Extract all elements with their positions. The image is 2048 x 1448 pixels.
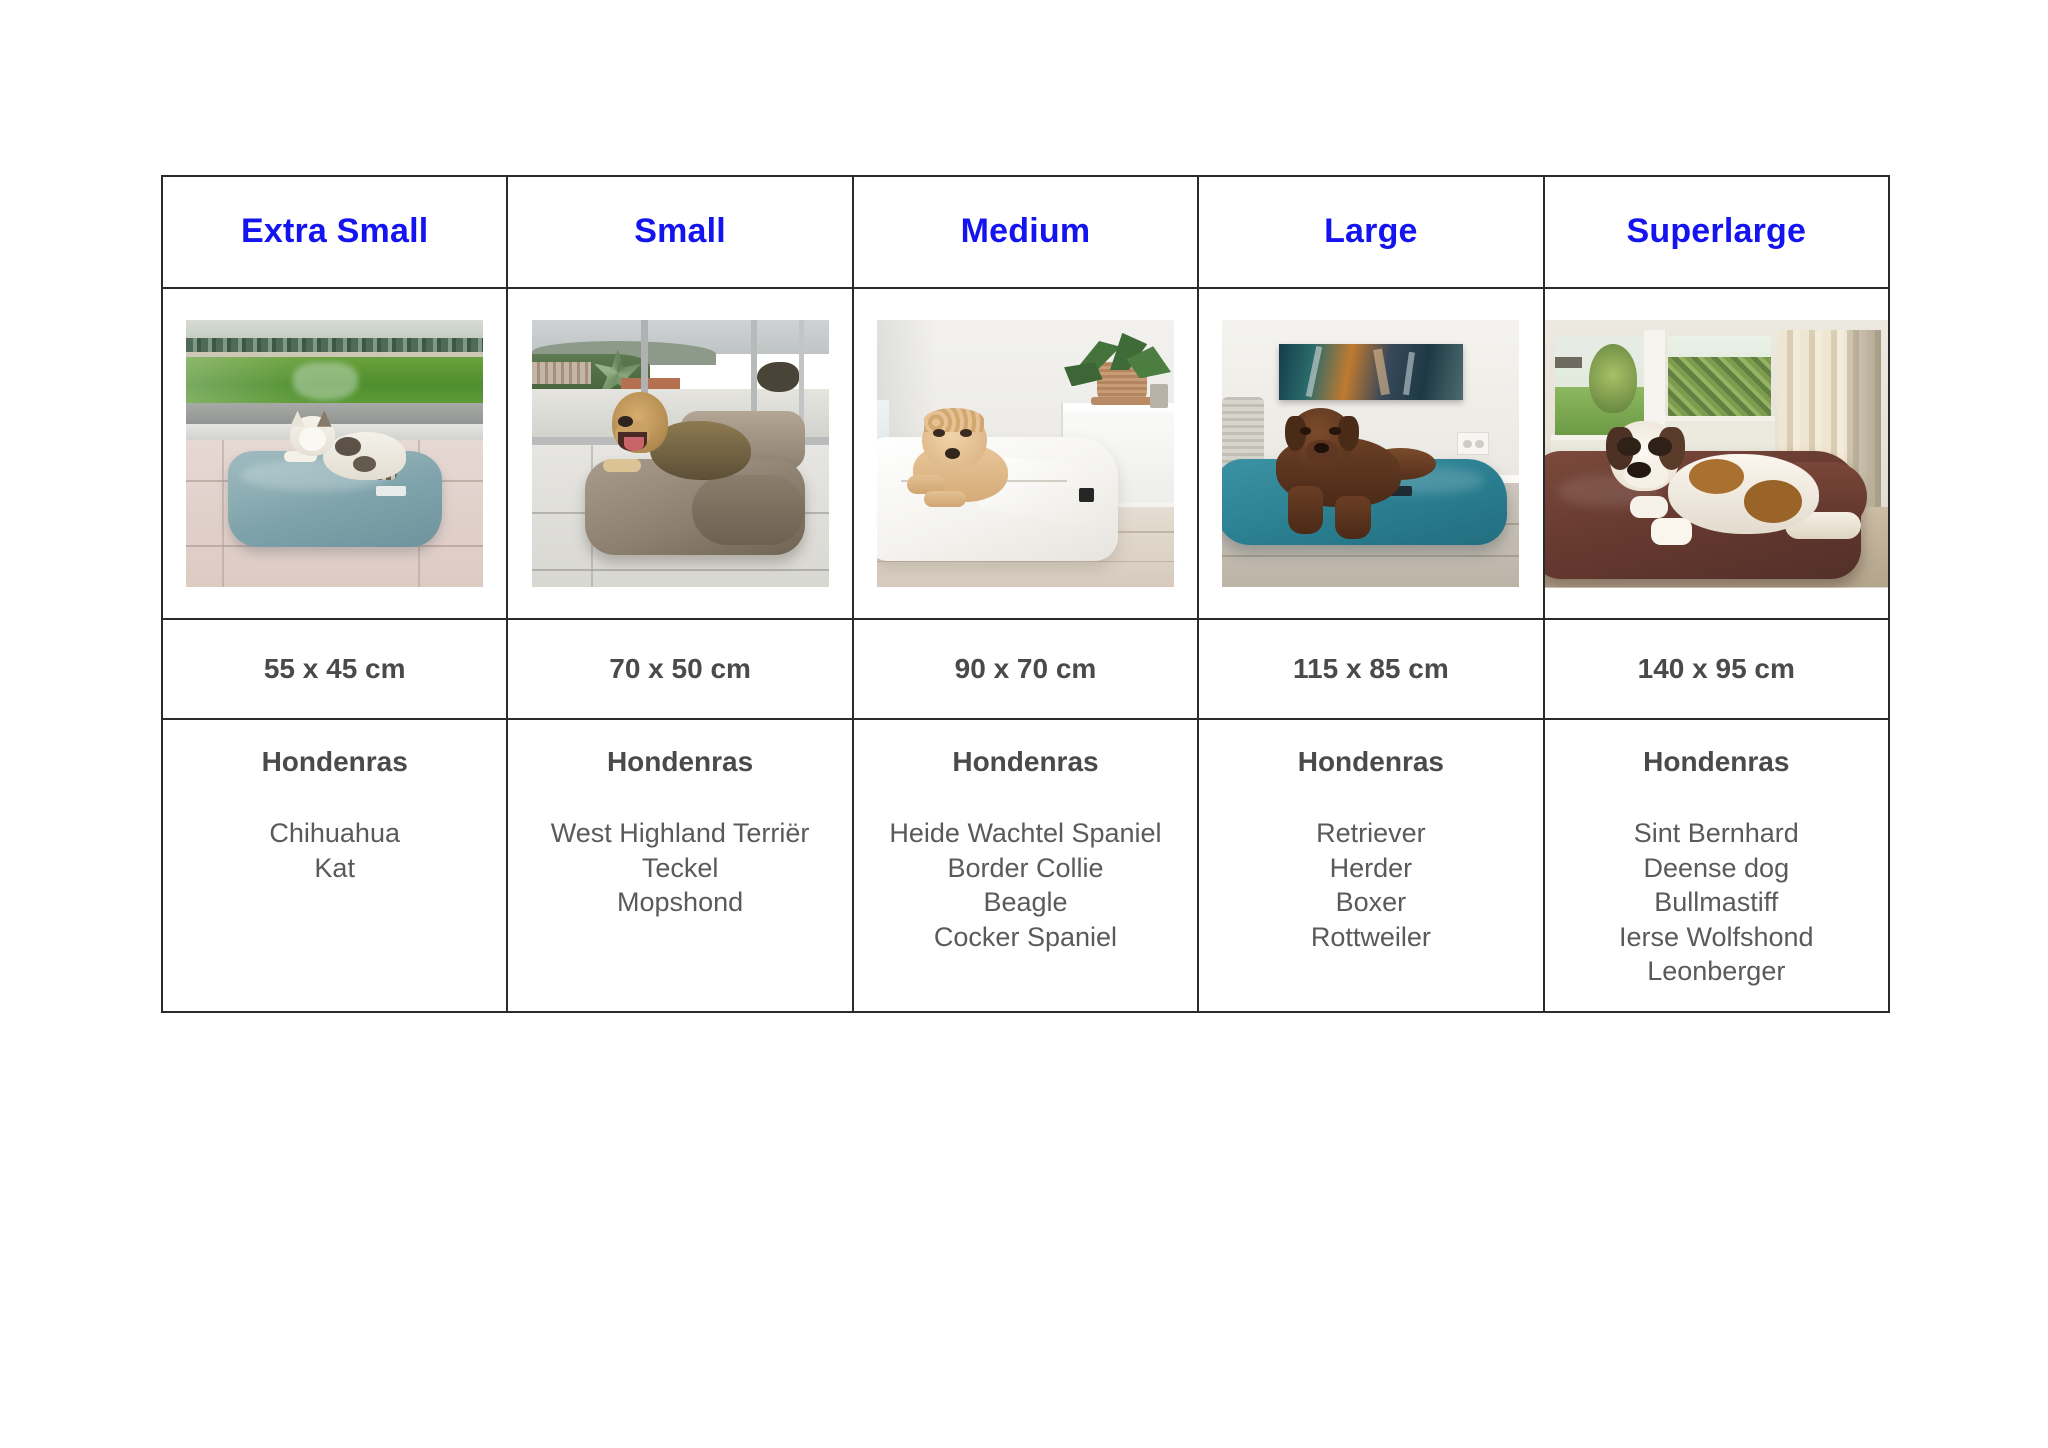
cell-photo-superlarge	[1544, 288, 1889, 619]
breed-item: Leonberger	[1545, 954, 1888, 989]
photo-wrap-superlarge	[1545, 289, 1888, 618]
size-name-small: Small	[508, 213, 851, 250]
table-row-dimensions: 55 x 45 cm 70 x 50 cm 90 x 70 cm 115 x 8…	[162, 619, 1889, 719]
cell-breeds-large: Hondenras Retriever Herder Boxer Rottwei…	[1198, 719, 1543, 1012]
cell-size-name-superlarge: Superlarge	[1544, 176, 1889, 288]
breed-item: Retriever	[1199, 816, 1542, 851]
cell-photo-small	[507, 288, 852, 619]
photo-wrap-large	[1199, 289, 1542, 618]
scene-medium	[877, 320, 1174, 588]
cell-photo-extra-small	[162, 288, 507, 619]
breeds-title-small: Hondenras	[508, 746, 851, 778]
cell-photo-large	[1198, 288, 1543, 619]
cell-breeds-medium: Hondenras Heide Wachtel Spaniel Border C…	[853, 719, 1198, 1012]
breed-item: Chihuahua	[163, 816, 506, 851]
breed-item: Boxer	[1199, 885, 1542, 920]
breed-list-superlarge: Sint Bernhard Deense dog Bullmastiff Ier…	[1545, 816, 1888, 989]
scene-large	[1222, 320, 1519, 588]
cell-breeds-superlarge: Hondenras Sint Bernhard Deense dog Bullm…	[1544, 719, 1889, 1012]
breed-block-large: Hondenras Retriever Herder Boxer Rottwei…	[1199, 720, 1542, 954]
photo-medium	[877, 320, 1174, 588]
dimensions-superlarge: 140 x 95 cm	[1545, 653, 1888, 685]
photo-wrap-extra-small	[163, 289, 506, 618]
breed-list-small: West Highland Terriër Teckel Mopshond	[508, 816, 851, 920]
size-name-medium: Medium	[854, 213, 1197, 250]
cell-size-name-large: Large	[1198, 176, 1543, 288]
cell-breeds-small: Hondenras West Highland Terriër Teckel M…	[507, 719, 852, 1012]
dimensions-medium: 90 x 70 cm	[854, 653, 1197, 685]
dimensions-extra-small: 55 x 45 cm	[163, 653, 506, 685]
breed-block-extra-small: Hondenras Chihuahua Kat	[163, 720, 506, 885]
scene-superlarge	[1545, 320, 1888, 588]
cell-photo-medium	[853, 288, 1198, 619]
breeds-title-extra-small: Hondenras	[163, 746, 506, 778]
dimensions-small: 70 x 50 cm	[508, 653, 851, 685]
table-row-photos	[162, 288, 1889, 619]
photo-large	[1222, 320, 1519, 588]
cell-breeds-extra-small: Hondenras Chihuahua Kat	[162, 719, 507, 1012]
breed-block-small: Hondenras West Highland Terriër Teckel M…	[508, 720, 851, 920]
photo-small	[532, 320, 829, 588]
photo-superlarge	[1545, 320, 1888, 588]
breed-item: Heide Wachtel Spaniel	[854, 816, 1197, 851]
breeds-title-large: Hondenras	[1199, 746, 1542, 778]
size-name-extra-small: Extra Small	[163, 213, 506, 250]
breed-list-large: Retriever Herder Boxer Rottweiler	[1199, 816, 1542, 954]
page-canvas: Extra Small Small Medium Large Superlarg…	[0, 0, 2048, 1448]
cell-size-name-medium: Medium	[853, 176, 1198, 288]
dog-bed-size-table: Extra Small Small Medium Large Superlarg…	[161, 175, 1890, 1013]
size-name-large: Large	[1199, 213, 1542, 250]
breed-item: Sint Bernhard	[1545, 816, 1888, 851]
breed-item: Beagle	[854, 885, 1197, 920]
dimensions-large: 115 x 85 cm	[1199, 653, 1542, 685]
breed-item: Cocker Spaniel	[854, 920, 1197, 955]
size-name-superlarge: Superlarge	[1545, 213, 1888, 250]
breed-item: Border Collie	[854, 851, 1197, 886]
cell-size-name-extra-small: Extra Small	[162, 176, 507, 288]
photo-extra-small	[186, 320, 483, 588]
breed-block-superlarge: Hondenras Sint Bernhard Deense dog Bullm…	[1545, 720, 1888, 989]
cell-dimensions-extra-small: 55 x 45 cm	[162, 619, 507, 719]
breed-item: Kat	[163, 851, 506, 886]
cell-dimensions-medium: 90 x 70 cm	[853, 619, 1198, 719]
breed-item: Bullmastiff	[1545, 885, 1888, 920]
table-row-breeds: Hondenras Chihuahua Kat Hondenras West H…	[162, 719, 1889, 1012]
breed-block-medium: Hondenras Heide Wachtel Spaniel Border C…	[854, 720, 1197, 954]
breed-item: Deense dog	[1545, 851, 1888, 886]
breed-list-medium: Heide Wachtel Spaniel Border Collie Beag…	[854, 816, 1197, 954]
cell-dimensions-small: 70 x 50 cm	[507, 619, 852, 719]
scene-small	[532, 320, 829, 588]
breed-item: Mopshond	[508, 885, 851, 920]
breed-list-extra-small: Chihuahua Kat	[163, 816, 506, 885]
breed-item: Rottweiler	[1199, 920, 1542, 955]
photo-wrap-small	[508, 289, 851, 618]
cell-dimensions-superlarge: 140 x 95 cm	[1544, 619, 1889, 719]
breed-item: West Highland Terriër	[508, 816, 851, 851]
breed-item: Teckel	[508, 851, 851, 886]
breeds-title-medium: Hondenras	[854, 746, 1197, 778]
cell-size-name-small: Small	[507, 176, 852, 288]
breeds-title-superlarge: Hondenras	[1545, 746, 1888, 778]
scene-extra-small	[186, 320, 483, 588]
breed-item: Herder	[1199, 851, 1542, 886]
photo-wrap-medium	[854, 289, 1197, 618]
cell-dimensions-large: 115 x 85 cm	[1198, 619, 1543, 719]
table-row-size-names: Extra Small Small Medium Large Superlarg…	[162, 176, 1889, 288]
breed-item: Ierse Wolfshond	[1545, 920, 1888, 955]
